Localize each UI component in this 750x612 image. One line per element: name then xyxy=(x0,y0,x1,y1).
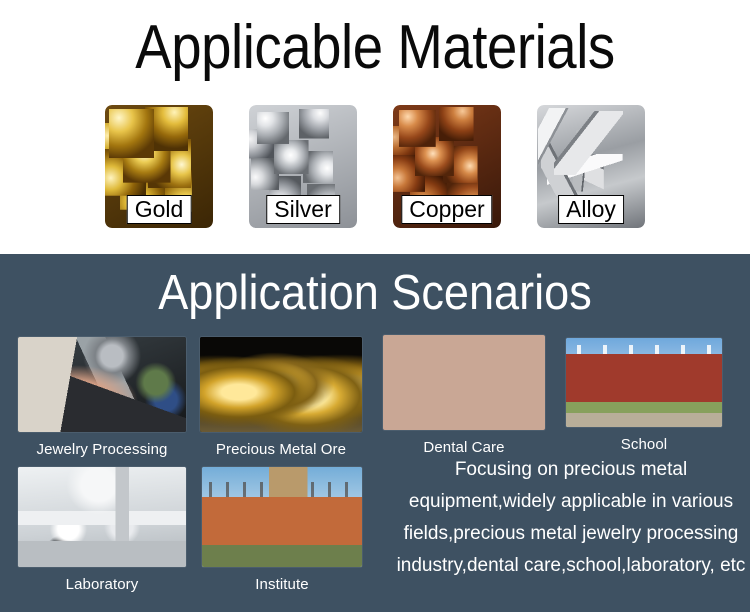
scenario-cell-institute: Institute xyxy=(202,467,362,595)
applicable-materials-title: Applicable Materials xyxy=(45,12,705,84)
jewelry-processing-photo xyxy=(18,337,186,432)
material-label-silver: Silver xyxy=(266,195,340,224)
material-label-gold: Gold xyxy=(127,195,192,224)
scenario-caption-school: School xyxy=(566,435,722,455)
dental-care-photo xyxy=(383,335,545,430)
laboratory-photo xyxy=(18,467,186,567)
material-card-alloy: Alloy xyxy=(537,105,645,228)
description-line-3: fields,precious metal jewelry processing xyxy=(392,518,750,550)
description-line-2: equipment,widely applicable in various xyxy=(392,486,750,518)
scenario-cell-dental-care: Dental Care xyxy=(383,335,545,458)
scenario-caption-institute: Institute xyxy=(202,575,362,595)
description-line-1: Focusing on precious metal xyxy=(392,454,750,486)
material-card-copper: Copper xyxy=(393,105,501,228)
material-card-silver: Silver xyxy=(249,105,357,228)
scenario-cell-jewelry-processing: Jewelry Processing xyxy=(18,337,186,460)
promo-banner: Applicable Materials Gold Silver Copper … xyxy=(0,0,750,612)
scenario-cell-precious-metal-ore: Precious Metal Ore xyxy=(200,337,362,460)
scenario-cell-laboratory: Laboratory xyxy=(18,467,186,595)
description-line-4: industry,dental care,school,laboratory, … xyxy=(392,550,750,582)
material-label-alloy: Alloy xyxy=(558,195,624,224)
material-card-gold: Gold xyxy=(105,105,213,228)
precious-metal-ore-photo xyxy=(200,337,362,432)
material-label-copper: Copper xyxy=(401,195,492,224)
application-scenarios-section: Application Scenarios Jewelry Processing… xyxy=(0,254,750,612)
scenario-caption-laboratory: Laboratory xyxy=(18,575,186,595)
applicable-materials-section: Applicable Materials Gold Silver Copper … xyxy=(0,0,750,254)
institute-building-photo xyxy=(202,467,362,567)
application-scenarios-title: Application Scenarios xyxy=(30,264,720,322)
scenario-cell-school: School xyxy=(566,338,722,455)
scenario-caption-precious-metal-ore: Precious Metal Ore xyxy=(200,440,362,460)
scenario-caption-jewelry-processing: Jewelry Processing xyxy=(18,440,186,460)
school-building-photo xyxy=(566,338,722,427)
scenarios-description: Focusing on precious metal equipment,wid… xyxy=(392,454,750,582)
materials-row: Gold Silver Copper Alloy xyxy=(0,105,750,235)
